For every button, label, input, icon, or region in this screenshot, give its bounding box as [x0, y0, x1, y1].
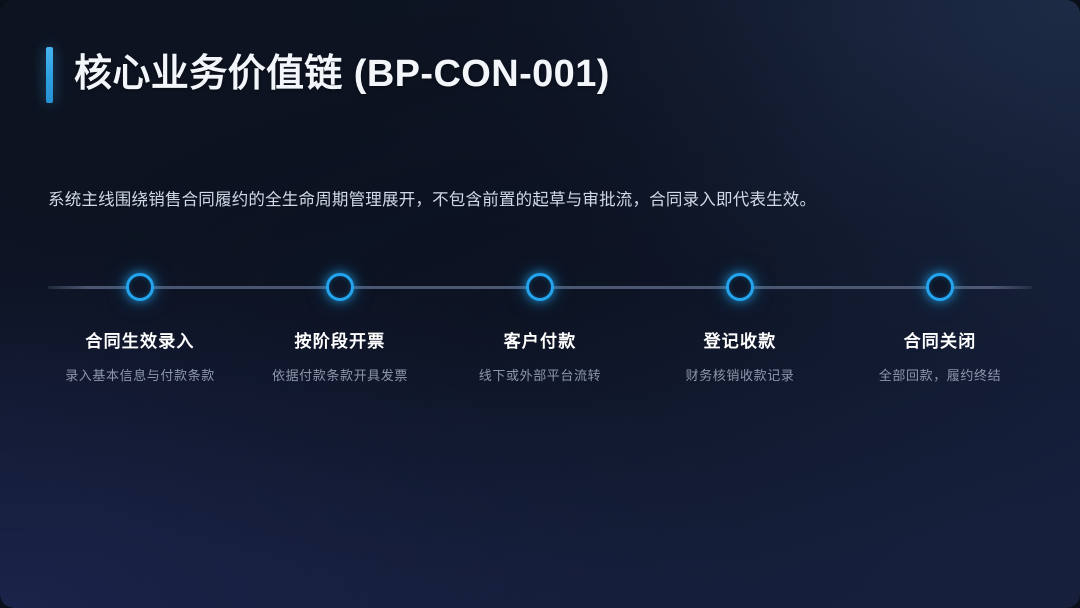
step-title: 客户付款 [504, 332, 577, 352]
step-title: 合同关闭 [904, 332, 977, 352]
step-description: 线下或外部平台流转 [479, 368, 601, 385]
timeline-step[interactable]: 按阶段开票 依据付款条款开具发票 [240, 248, 440, 385]
timeline-step[interactable]: 登记收款 财务核销收款记录 [640, 248, 840, 385]
slide-canvas: 核心业务价值链 (BP-CON-001) 系统主线围绕销售合同履约的全生命周期管… [0, 0, 1080, 608]
step-description: 财务核销收款记录 [686, 368, 795, 385]
step-title: 合同生效录入 [85, 332, 194, 352]
step-description: 依据付款条款开具发票 [272, 368, 408, 385]
timeline-step[interactable]: 合同关闭 全部回款，履约终结 [840, 248, 1040, 385]
value-chain-timeline: 合同生效录入 录入基本信息与付款条款 按阶段开票 依据付款条款开具发票 客户付款… [0, 248, 1080, 398]
step-description: 全部回款，履约终结 [879, 368, 1001, 385]
timeline-node-icon [526, 273, 554, 301]
timeline-node-icon [126, 273, 154, 301]
timeline-node-icon [726, 273, 754, 301]
slide-header: 核心业务价值链 (BP-CON-001) [46, 47, 610, 103]
step-description: 录入基本信息与付款条款 [65, 368, 215, 385]
timeline-steps: 合同生效录入 录入基本信息与付款条款 按阶段开票 依据付款条款开具发票 客户付款… [40, 248, 1040, 385]
timeline-node-icon [926, 273, 954, 301]
page-title: 核心业务价值链 (BP-CON-001) [74, 54, 610, 96]
step-title: 登记收款 [704, 332, 777, 352]
title-accent-bar [46, 47, 53, 103]
timeline-step[interactable]: 客户付款 线下或外部平台流转 [440, 248, 640, 385]
timeline-step[interactable]: 合同生效录入 录入基本信息与付款条款 [40, 248, 240, 385]
timeline-node-icon [326, 273, 354, 301]
lead-paragraph: 系统主线围绕销售合同履约的全生命周期管理展开，不包含前置的起草与审批流，合同录入… [48, 187, 1008, 213]
step-title: 按阶段开票 [295, 332, 386, 352]
